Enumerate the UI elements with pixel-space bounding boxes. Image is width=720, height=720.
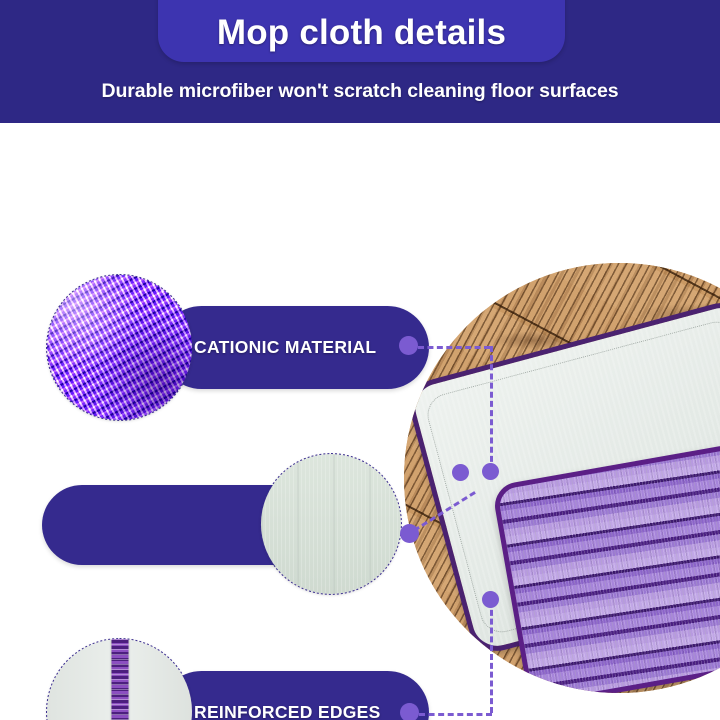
connector-dot-1 — [399, 336, 418, 355]
header-banner: Mop cloth details Durable microfiber won… — [0, 0, 720, 123]
feature-label-cationic-material: CATIONIC MATERIAL — [194, 337, 376, 358]
purple-edge-stitching — [111, 639, 128, 720]
product-detail-infographic: Mop cloth details Durable microfiber won… — [0, 0, 720, 720]
pale-pad-fabric-texture — [261, 454, 401, 594]
feature-label-reinforced-edges: REINFORCED EDGES — [194, 702, 381, 720]
connector-line-1b — [490, 346, 493, 471]
connector-dot-1-end — [482, 463, 499, 480]
feature-pill-reinforced-edges: REINFORCED EDGES — [160, 671, 429, 720]
connector-dot-2-end — [452, 464, 469, 481]
connector-line-1 — [418, 346, 490, 349]
page-subtitle: Durable microfiber won't scratch cleanin… — [0, 80, 720, 103]
detail-circle-cationic-material — [47, 275, 192, 420]
purple-microfiber-texture — [47, 275, 192, 420]
title-badge: Mop cloth details — [158, 0, 565, 62]
connector-line-3b — [490, 601, 493, 713]
detail-circle-pad-fabric — [261, 454, 401, 594]
detail-circle-reinforced-edges — [47, 639, 192, 720]
page-title: Mop cloth details — [217, 15, 506, 62]
connector-dot-2 — [400, 524, 419, 543]
product-photo — [404, 263, 720, 693]
connector-dot-3-end — [482, 591, 499, 608]
pad-fabric-base — [47, 639, 192, 720]
feature-pill-cationic-material: CATIONIC MATERIAL — [160, 306, 429, 389]
connector-line-3 — [419, 713, 492, 716]
content-area: CATIONIC MATERIAL REINFORCED EDGES — [0, 123, 720, 720]
connector-dot-3 — [400, 703, 419, 720]
